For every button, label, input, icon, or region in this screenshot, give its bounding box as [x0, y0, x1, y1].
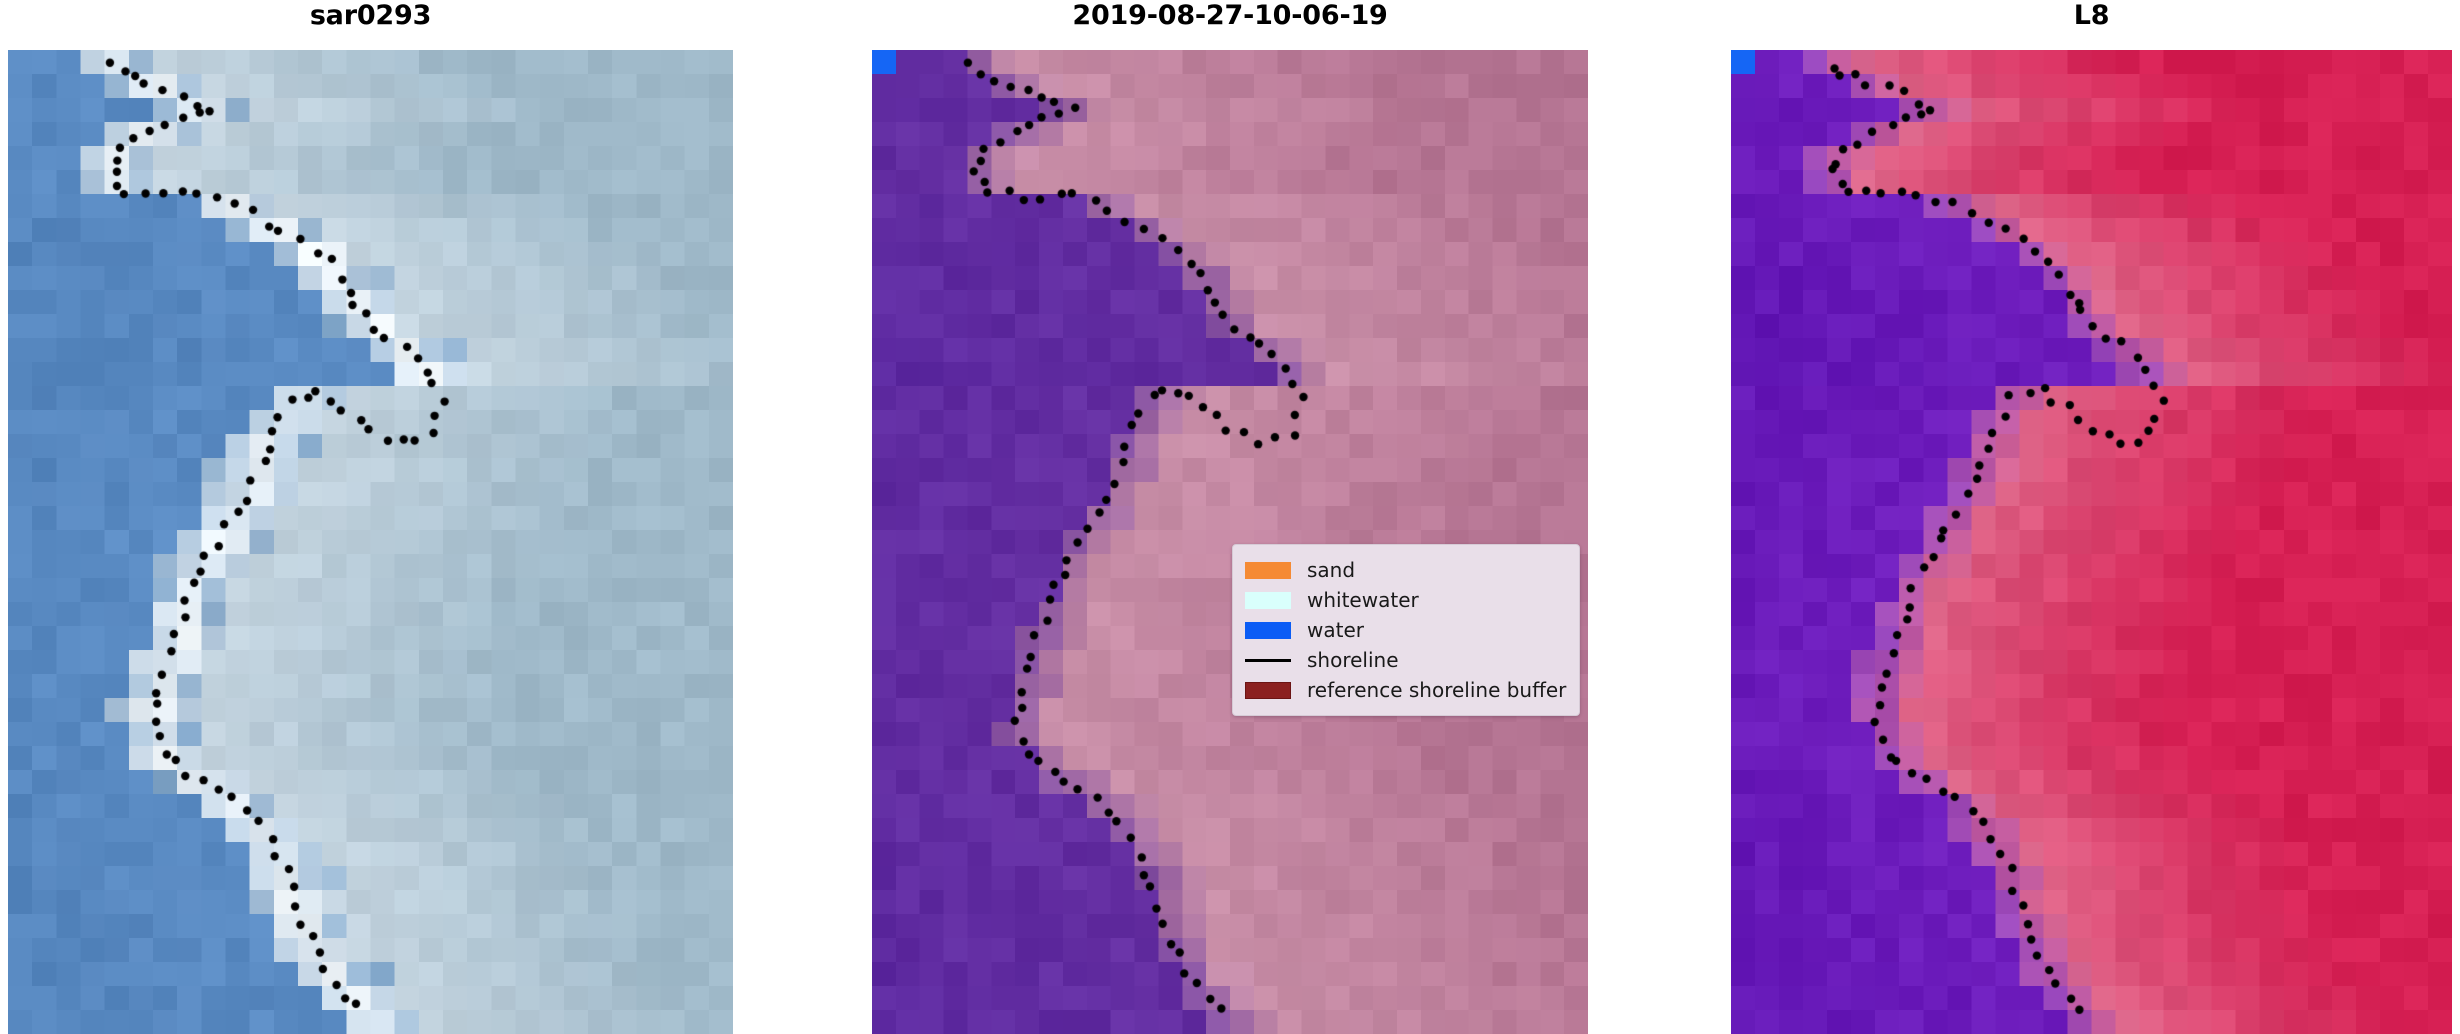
panel-title-l8: L8 — [1731, 0, 2452, 32]
shoreline-overlay-l8 — [1731, 50, 2452, 1034]
shoreline-overlay-sar0293 — [8, 50, 733, 1034]
figure-root: sar0293 2019-08-27-10-06-19 sandwhitewat… — [0, 0, 2460, 1034]
shoreline-overlay-classified — [872, 50, 1588, 1034]
panel-title-sar0293: sar0293 — [8, 0, 733, 32]
panel-title-classified: 2019-08-27-10-06-19 — [872, 0, 1588, 32]
